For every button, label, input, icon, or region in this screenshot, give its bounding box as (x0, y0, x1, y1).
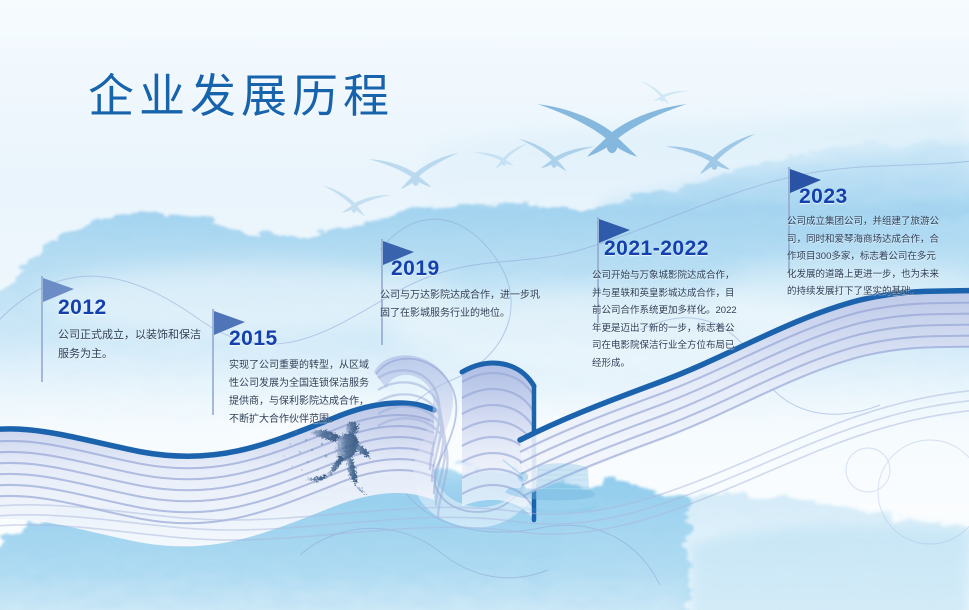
milestone-description: 公司与万达影院达成合作，进一步巩固了在影城服务行业的地位。 (380, 287, 540, 323)
milestone-description: 公司正式成立，以装饰和保洁服务为主。 (58, 326, 208, 365)
milestone-year: 2019 (391, 257, 440, 281)
milestone-year: 2012 (58, 296, 107, 320)
page-title: 企业发展历程 (88, 60, 394, 126)
milestone-description: 实现了公司重要的转型，从区域性公司发展为全国连锁保洁服务提供商，与保利影院达成合… (229, 357, 369, 429)
milestone-year: 2023 (799, 185, 848, 209)
infographic-canvas: 企业发展历程 2012 公司正式成立，以装饰和保洁服务为主。 2015 实现了公… (0, 0, 969, 610)
milestone-description: 公司成立集团公司，并组建了旅游公司，同时和爱琴海商场达成合作，合作项目300多家… (787, 213, 939, 301)
milestone-year: 2021-2022 (604, 237, 709, 261)
milestone-year: 2015 (229, 327, 278, 351)
milestone-description: 公司开始与万象城影院达成合作，并与星轶和英皇影城达成合作，目前公司合作系统更加多… (592, 267, 737, 372)
